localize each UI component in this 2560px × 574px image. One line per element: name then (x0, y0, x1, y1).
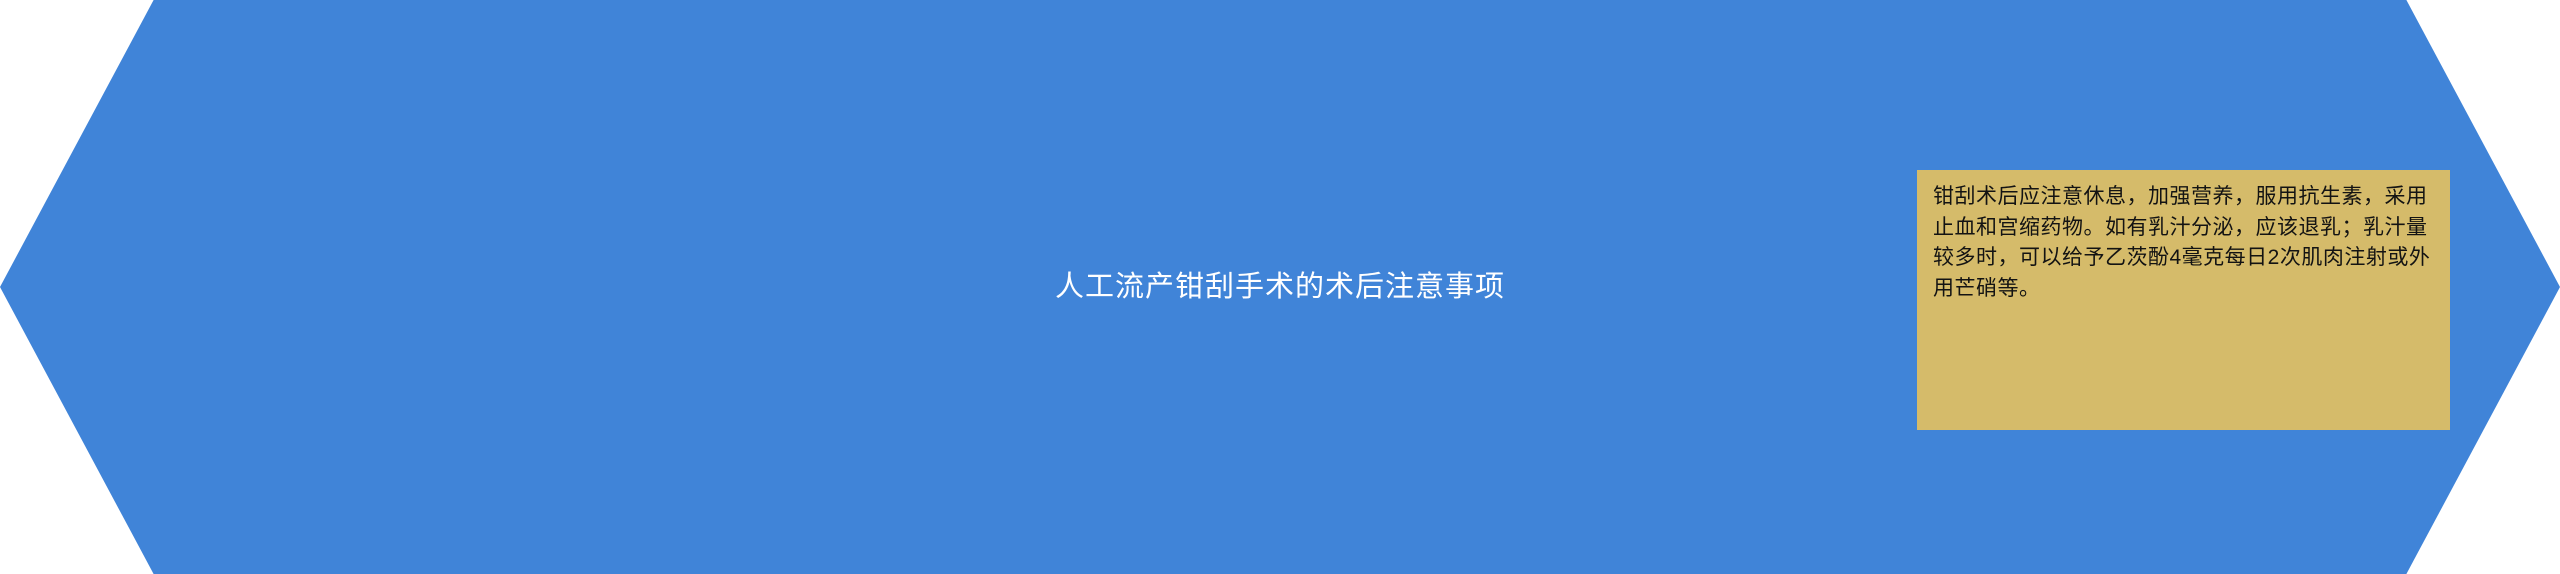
mindmap-canvas: 2、各种长效、短效口服避孕药或避孕针以及阴道环等，宜在医生指导下使用。 3、孩子… (0, 0, 2560, 574)
node-center-topic[interactable]: 人工流产钳刮手术的术后注意事项 (0, 0, 560, 180)
node-aftercare-branch[interactable]: 钳刮术后应注意休息，加强营养，服用抗生素，采用止血和宫缩药物。如有乳汁分泌，应该… (1917, 170, 2450, 430)
node-label: 钳刮术后应注意休息，加强营养，服用抗生素，采用止血和宫缩药物。如有乳汁分泌，应该… (1933, 182, 2436, 305)
